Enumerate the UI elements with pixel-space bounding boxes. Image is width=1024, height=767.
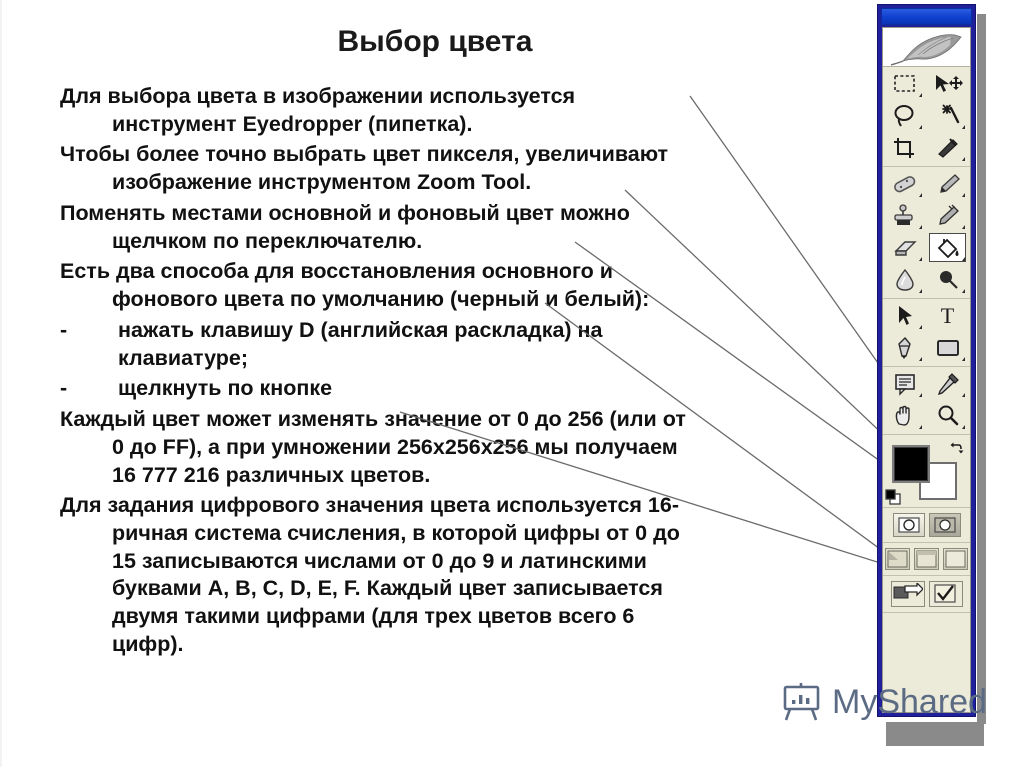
slide-body-text: Для выбора цвета в изображении используе… — [60, 83, 850, 662]
text-line: нажать клавишу D (английская раскладка) … — [118, 317, 850, 345]
standard-mode-button[interactable] — [893, 513, 925, 537]
text-line: Для выбора цвета в изображении используе… — [60, 83, 850, 111]
history-brush-tool[interactable] — [926, 200, 969, 232]
toolbox-drop-shadow-bottom — [886, 722, 984, 746]
text-line: клавиатуре; — [118, 345, 850, 373]
tool-row — [883, 400, 970, 432]
tool-group-navigation — [883, 367, 970, 435]
text-line: 15 записываются числами от 0 до 9 и лати… — [112, 548, 850, 576]
path-selection-tool[interactable] — [883, 300, 926, 332]
tool-corner-marker — [962, 125, 965, 129]
clone-stamp-tool[interactable] — [883, 200, 926, 232]
myshared-watermark: MyShared — [782, 682, 987, 722]
tool-row — [883, 68, 970, 100]
tool-corner-marker — [919, 93, 922, 97]
dodge-tool[interactable] — [926, 264, 969, 296]
paragraph: Каждый цвет может изменять значение от 0… — [60, 406, 850, 489]
notes-tool[interactable] — [883, 368, 926, 400]
jump-to-buttons — [883, 576, 970, 613]
tool-group-selection — [883, 67, 970, 167]
bullet-marker: - — [60, 317, 118, 372]
tool-corner-marker — [919, 425, 922, 429]
tool-corner-marker — [919, 325, 922, 329]
tool-corner-marker — [962, 193, 965, 197]
type-tool-glyph: T — [941, 305, 954, 327]
paragraph: Чтобы более точно выбрать цвет пикселя, … — [60, 141, 850, 196]
tool-row — [883, 232, 970, 264]
text-line: ричная система счисления, в которой цифр… — [112, 520, 850, 548]
paint-bucket-tool[interactable] — [926, 232, 969, 264]
text-line: щелчком по переключателю. — [112, 228, 850, 256]
color-swatch-area[interactable] — [883, 435, 970, 508]
magic-wand-tool[interactable] — [926, 100, 969, 132]
tool-corner-marker — [962, 257, 965, 261]
text-line: 0 до FF), а при умножении 256х256х256 мы… — [112, 434, 850, 462]
eraser-tool[interactable] — [883, 232, 926, 264]
tool-row — [883, 100, 970, 132]
jump-to-imageready-button[interactable] — [891, 581, 925, 607]
tool-row — [883, 200, 970, 232]
toolbox-content: T — [882, 27, 971, 713]
move-tool[interactable] — [926, 68, 969, 100]
tool-row: T — [883, 300, 970, 332]
text-line: 16 777 216 различных цветов. — [112, 462, 850, 490]
text-line: щелкнуть по кнопке — [118, 375, 850, 403]
bullet-text: нажать клавишу D (английская раскладка) … — [118, 317, 850, 372]
healing-brush-tool[interactable] — [883, 168, 926, 200]
eyedropper-tool[interactable] — [926, 368, 969, 400]
blur-tool[interactable] — [883, 264, 926, 296]
rectangle-shape-tool[interactable] — [926, 332, 969, 364]
feather-icon — [891, 35, 961, 65]
foreground-color-swatch[interactable] — [892, 445, 930, 483]
text-line: Поменять местами основной и фоновый цвет… — [60, 200, 850, 228]
text-line: изображение инструментом Zoom Tool. — [112, 169, 850, 197]
tool-group-retouch-paint — [883, 167, 970, 299]
text-line: Каждый цвет может изменять значение от 0… — [60, 406, 850, 434]
tool-corner-marker — [919, 393, 922, 397]
swap-colors-icon[interactable] — [950, 441, 964, 455]
tool-corner-marker — [919, 125, 922, 129]
crop-tool[interactable] — [883, 132, 926, 164]
tool-corner-marker — [919, 289, 922, 293]
tool-corner-marker — [962, 357, 965, 361]
text-line: Чтобы более точно выбрать цвет пикселя, … — [60, 141, 850, 169]
zoom-tool[interactable] — [926, 400, 969, 432]
tool-row — [883, 168, 970, 200]
slice-tool[interactable] — [926, 132, 969, 164]
photoshop-toolbox-panel[interactable]: T — [877, 4, 976, 717]
bullet-item: -щелкнуть по кнопке — [60, 375, 850, 403]
tool-corner-marker — [962, 393, 965, 397]
full-screen-with-menubar-button[interactable] — [914, 548, 939, 570]
paragraph: Есть два способа для восстановления осно… — [60, 258, 850, 313]
rectangular-marquee-tool[interactable] — [883, 68, 926, 100]
tool-corner-marker — [919, 225, 922, 229]
lasso-tool[interactable] — [883, 100, 926, 132]
tool-corner-marker — [962, 157, 965, 161]
screen-mode-buttons — [883, 543, 970, 576]
tool-corner-marker — [919, 193, 922, 197]
text-line: инструмент Eyedropper (пипетка). — [112, 111, 850, 139]
paragraph: Поменять местами основной и фоновый цвет… — [60, 200, 850, 255]
text-line: буквами A, B, C, D, E, F. Каждый цвет за… — [112, 575, 850, 603]
tool-row — [883, 264, 970, 296]
pen-tool[interactable] — [883, 332, 926, 364]
tool-corner-marker — [962, 289, 965, 293]
quick-mask-mode-button[interactable] — [929, 513, 961, 537]
tool-row — [883, 368, 970, 400]
text-line: цифр). — [112, 631, 850, 659]
full-screen-mode-button[interactable] — [943, 548, 968, 570]
tool-row — [883, 132, 970, 164]
photoshop-feather-logo — [883, 28, 970, 67]
tool-corner-marker — [962, 225, 965, 229]
tool-corner-marker — [919, 257, 922, 261]
page-title: Выбор цвета — [0, 25, 870, 58]
standard-screen-mode-button[interactable] — [885, 548, 910, 570]
text-line: Для задания цифрового значения цвета исп… — [60, 492, 850, 520]
text-line: фонового цвета по умолчанию (черный и бе… — [112, 286, 850, 314]
toolbox-titlebar[interactable] — [881, 8, 972, 25]
tool-corner-marker — [962, 425, 965, 429]
bullet-marker: - — [60, 375, 118, 403]
slide-left-border — [0, 0, 2, 767]
slide-canvas: Выбор цвета Для выбора цвета в изображен… — [0, 0, 1024, 767]
mask-mode-buttons — [883, 508, 970, 543]
toolbox-drop-shadow-right — [977, 14, 986, 724]
tool-corner-marker — [919, 357, 922, 361]
bullet-item: -нажать клавишу D (английская раскладка)… — [60, 317, 850, 372]
watermark-label: MyShared — [832, 683, 987, 722]
tool-group-vector-type: T — [883, 299, 970, 367]
brush-tool[interactable] — [926, 168, 969, 200]
paragraph: Для выбора цвета в изображении используе… — [60, 83, 850, 138]
imageready-button[interactable] — [929, 581, 963, 607]
type-tool[interactable]: T — [926, 300, 969, 332]
text-line: Есть два способа для восстановления осно… — [60, 258, 850, 286]
tool-row — [883, 332, 970, 364]
bullet-text: щелкнуть по кнопке — [118, 375, 850, 403]
presentation-board-icon — [782, 682, 826, 722]
default-colors-icon[interactable] — [885, 489, 901, 505]
hand-tool[interactable] — [883, 400, 926, 432]
text-line: двумя такими цифрами (для трех цветов вс… — [112, 603, 850, 631]
paragraph: Для задания цифрового значения цвета исп… — [60, 492, 850, 658]
